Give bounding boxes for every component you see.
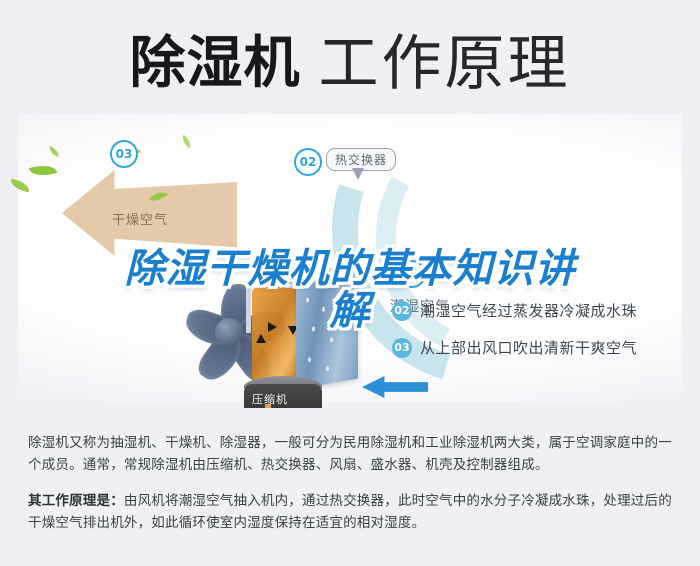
- diagram-badge-01: 01: [398, 260, 426, 288]
- list-item: 02 潮湿空气经过蒸发器冷凝成水珠: [392, 300, 692, 321]
- page-title-primary: 除湿机: [130, 36, 301, 92]
- paragraph-definition: 除湿机又称为抽湿机、干燥机、除湿器，一般可分为民用除湿机和工业除湿机两大类，属于…: [28, 432, 676, 476]
- step-badge: 03: [392, 338, 412, 358]
- callout-tail: [352, 168, 364, 180]
- fan-hub: [215, 318, 243, 346]
- body-copy: 除湿机又称为抽湿机、干燥机、除湿器，一般可分为民用除湿机和工业除湿机两大类，属于…: [28, 418, 676, 548]
- flow-arrow-up-icon: [256, 334, 266, 343]
- paragraph-principle: 其工作原理是：由风机将潮湿空气抽入机内，通过热交换器，此时空气中的水分子冷凝成水…: [28, 490, 676, 534]
- page-header: 除湿机 工作原理: [0, 22, 700, 106]
- step-badge: 02: [392, 301, 412, 321]
- diagram-badge-03: 03: [110, 140, 138, 168]
- step-label: 潮湿空气经过蒸发器冷凝成水珠: [420, 300, 637, 321]
- step-label: 从上部出风口吹出清新干爽空气: [420, 337, 637, 358]
- step-list: 02 潮湿空气经过蒸发器冷凝成水珠 03 从上部出风口吹出清新干爽空气: [392, 300, 692, 374]
- page-title-secondary: 工作原理: [319, 34, 571, 94]
- flow-arrow-right-icon: [268, 322, 277, 332]
- paragraph-principle-lead: 其工作原理是：: [28, 493, 124, 509]
- infographic-page: 除湿机 工作原理 干燥空气: [0, 0, 700, 566]
- dry-air-label: 干燥空气: [112, 209, 168, 228]
- list-item: 03 从上部出风口吹出清新干爽空气: [392, 337, 692, 358]
- diagram-badge-02: 02: [294, 148, 322, 176]
- compressor-label: 压缩机: [252, 391, 288, 407]
- paragraph-principle-rest: 由风机将潮湿空气抽入机内，通过热交换器，此时空气中的水分子冷凝成水珠，处理过后的…: [28, 493, 672, 531]
- heat-exchanger-block: [296, 275, 358, 390]
